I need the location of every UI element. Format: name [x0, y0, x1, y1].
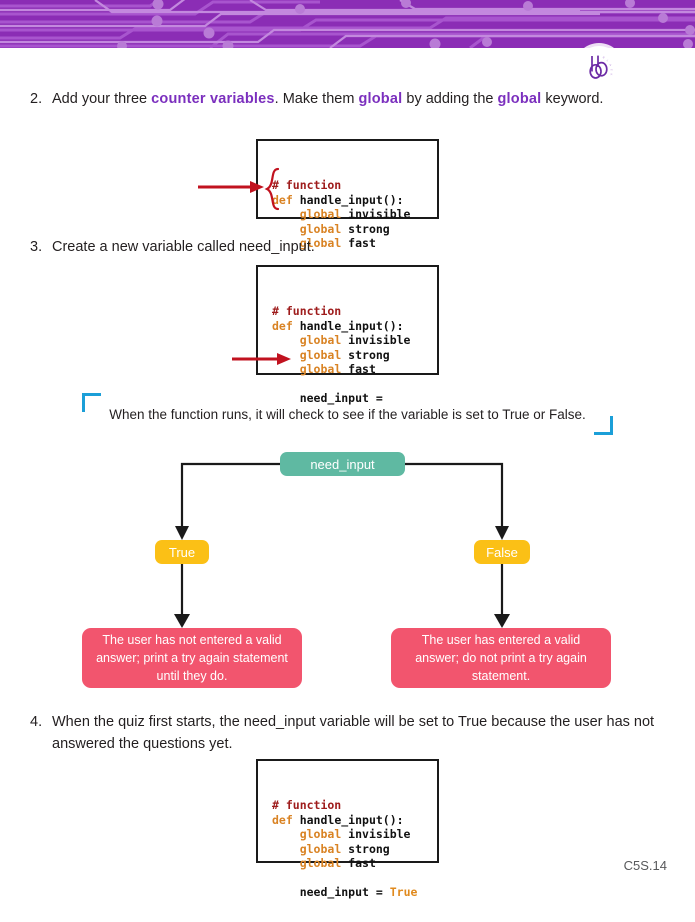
step-4: 4. When the quiz first starts, the need_…: [30, 712, 660, 756]
step-4-text: When the quiz first starts, the need_inp…: [52, 712, 660, 756]
flow-outcome-false-label: The user has entered a valid answer; do …: [403, 631, 599, 685]
step-2-part4: keyword.: [541, 91, 603, 107]
code-line: [272, 377, 427, 392]
code-block-globals: # functiondef handle_input(): global inv…: [256, 139, 439, 219]
code-block-need-input-true: # functiondef handle_input(): global inv…: [256, 759, 439, 863]
flow-node-condition: need_input: [280, 452, 405, 476]
step-2-part1: Add your three: [52, 91, 151, 107]
flow-node-condition-label: need_input: [310, 457, 374, 472]
code-line: # function: [272, 798, 427, 813]
brand-logo: B L A C K: [577, 46, 621, 90]
header-banner: [0, 0, 695, 48]
code-line: def handle_input():: [272, 813, 427, 828]
code-line: global fast: [272, 362, 427, 377]
code-line: def handle_input():: [272, 319, 427, 334]
code-line: global strong: [272, 222, 427, 237]
code-line: global invisible: [272, 207, 427, 222]
step-3: 3. Create a new variable called need_inp…: [30, 237, 630, 259]
step-2-emphasis-global-2: global: [498, 91, 542, 107]
step-2-emphasis-counter-variables: counter variables: [151, 91, 274, 107]
annotation-brace-1: [264, 167, 282, 211]
flow-node-true-label: True: [169, 545, 195, 560]
svg-text:L: L: [606, 59, 610, 63]
callout-box: When the function runs, it will check to…: [82, 393, 613, 435]
svg-text:K: K: [609, 73, 613, 75]
flow-outcome-true: The user has not entered a valid answer;…: [82, 628, 302, 688]
code-line: global fast: [272, 856, 427, 871]
bb-monogram-icon: B L A C K: [582, 51, 616, 85]
step-3-number: 3.: [30, 237, 52, 259]
code-line: global strong: [272, 348, 427, 363]
callout-text: When the function runs, it will check to…: [91, 407, 603, 422]
step-2-emphasis-global-1: global: [358, 91, 402, 107]
svg-text:A: A: [608, 63, 612, 66]
step-2-text: Add your three counter variables. Make t…: [52, 89, 630, 111]
svg-text:C: C: [610, 68, 614, 71]
code-line: [272, 871, 427, 886]
code-line: # function: [272, 304, 427, 319]
code-line: global invisible: [272, 827, 427, 842]
code-line: global invisible: [272, 333, 427, 348]
step-2-part3: by adding the: [402, 91, 497, 107]
circuit-pattern: [0, 0, 695, 48]
callout-corner-top-left: [82, 393, 101, 412]
step-2: 2. Add your three counter variables. Mak…: [30, 89, 630, 111]
flow-outcome-false: The user has entered a valid answer; do …: [391, 628, 611, 688]
flow-node-false-label: False: [486, 545, 518, 560]
svg-text:B: B: [602, 55, 606, 59]
step-2-part2: . Make them: [275, 91, 359, 107]
step-2-number: 2.: [30, 89, 52, 111]
flowchart: need_input True False The user has not e…: [0, 440, 695, 702]
step-3-text: Create a new variable called need_input.: [52, 237, 630, 259]
annotation-arrow-1: [198, 180, 268, 194]
code-block-need-input-true-content: # functiondef handle_input(): global inv…: [258, 790, 437, 908]
code-line: need_input = True: [272, 885, 427, 900]
step-4-number: 4.: [30, 712, 52, 756]
code-line: def handle_input():: [272, 193, 427, 208]
code-line: global strong: [272, 842, 427, 857]
code-line: # function: [272, 178, 427, 193]
page-footer-code: C5S.14: [624, 858, 667, 873]
flow-outcome-true-label: The user has not entered a valid answer;…: [94, 631, 290, 685]
flow-node-false: False: [474, 540, 530, 564]
callout-corner-bottom-right: [594, 416, 613, 435]
annotation-arrow-2: [232, 352, 294, 366]
flow-node-true: True: [155, 540, 209, 564]
